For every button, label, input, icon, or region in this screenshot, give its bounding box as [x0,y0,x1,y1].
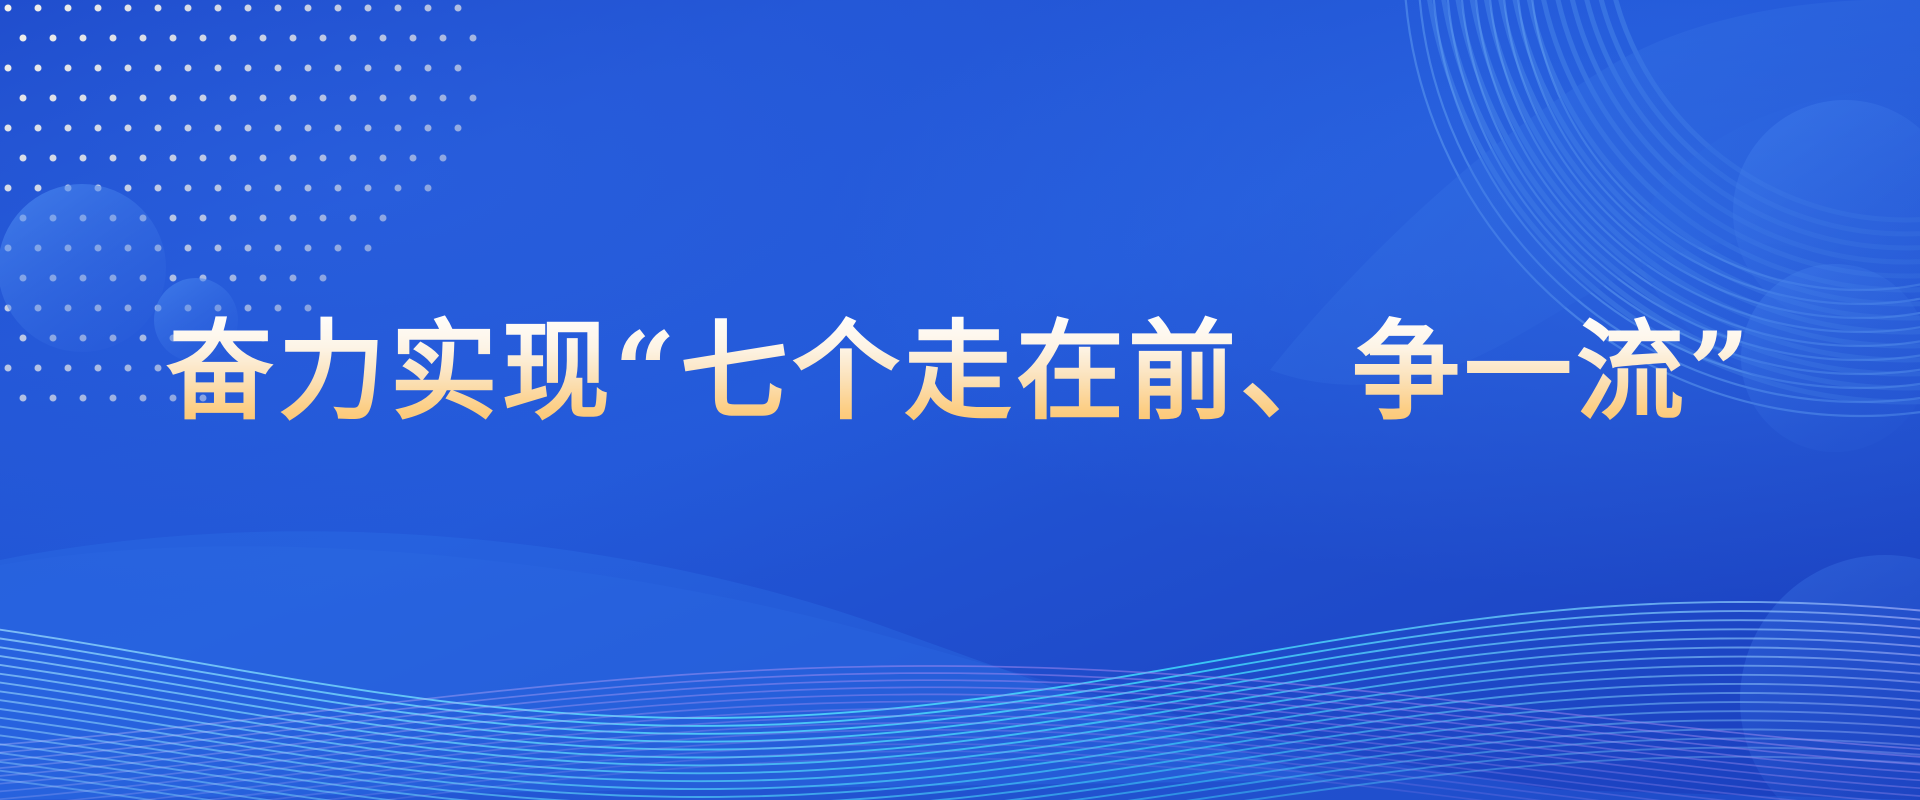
banner-canvas: 奋力实现“七个走在前、争一流” [0,0,1920,800]
banner-title: 奋力实现“七个走在前、争一流” [0,310,1920,435]
